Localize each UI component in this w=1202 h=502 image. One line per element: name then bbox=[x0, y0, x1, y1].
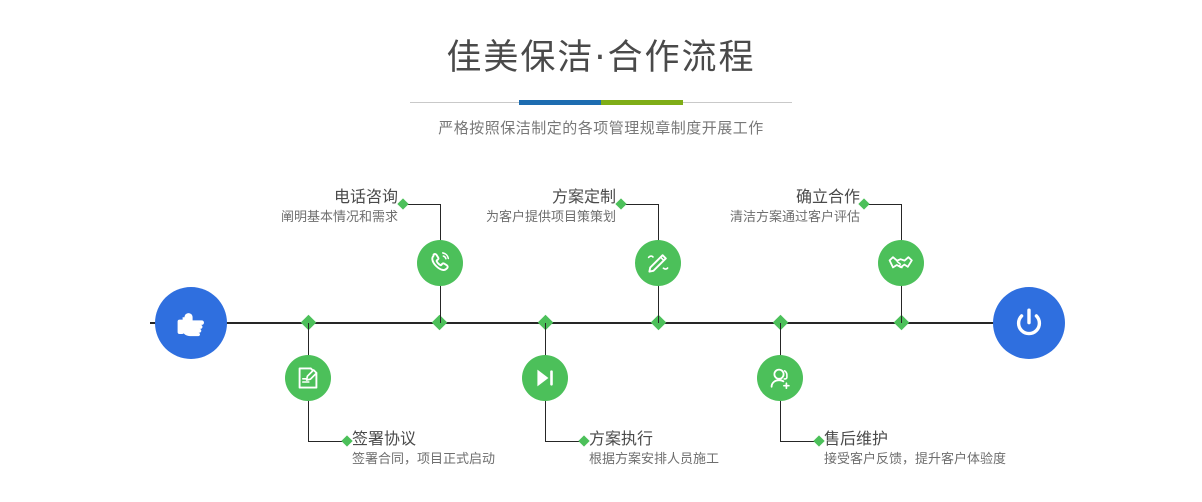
step-3-title: 方案定制 bbox=[448, 186, 616, 208]
step-6-desc: 接受客户反馈，提升客户体验度 bbox=[824, 450, 1006, 470]
document-pencil-icon bbox=[294, 364, 322, 392]
step-2-label: 签署协议 签署合同，项目正式启动 bbox=[352, 428, 495, 470]
step-5-icon-bubble[interactable] bbox=[878, 240, 924, 286]
step-2-icon-bubble[interactable] bbox=[285, 355, 331, 401]
customer-service-add-icon bbox=[766, 364, 794, 392]
step-5-marker bbox=[858, 198, 869, 209]
step-6-connector-horizontal bbox=[780, 441, 818, 442]
step-4-desc: 根据方案安排人员施工 bbox=[589, 450, 719, 470]
page-subtitle: 严格按照保洁制定的各项管理规章制度开展工作 bbox=[0, 118, 1202, 138]
step-2-marker bbox=[341, 435, 352, 446]
title-divider bbox=[410, 98, 792, 108]
handshake-icon bbox=[887, 249, 915, 277]
step-3-icon-bubble[interactable] bbox=[635, 240, 681, 286]
step-2-connector-horizontal bbox=[308, 441, 346, 442]
page-title: 佳美保洁·合作流程 bbox=[0, 38, 1202, 78]
pointing-hand-icon bbox=[171, 303, 211, 343]
step-1-icon-bubble[interactable] bbox=[417, 240, 463, 286]
step-4-icon-bubble[interactable] bbox=[522, 355, 568, 401]
divider-segment-green bbox=[601, 100, 683, 105]
step-6-marker bbox=[813, 435, 824, 446]
timeline-end-endpoint bbox=[993, 287, 1065, 359]
step-1-marker bbox=[397, 198, 408, 209]
cooperation-process-infographic: 佳美保洁·合作流程 严格按照保洁制定的各项管理规章制度开展工作 bbox=[0, 0, 1202, 502]
step-6-icon-bubble[interactable] bbox=[757, 355, 803, 401]
phone-call-icon bbox=[426, 249, 454, 277]
step-1-label: 电话咨询 阐明基本情况和需求 bbox=[230, 186, 398, 228]
step-4-title: 方案执行 bbox=[589, 428, 719, 450]
step-1-connector-horizontal bbox=[403, 204, 441, 205]
pencil-design-icon bbox=[644, 249, 672, 277]
step-4-marker bbox=[578, 435, 589, 446]
step-5-desc: 清洁方案通过客户评估 bbox=[690, 208, 860, 228]
step-5-connector-horizontal bbox=[864, 204, 902, 205]
step-3-label: 方案定制 为客户提供项目策策划 bbox=[448, 186, 616, 228]
step-4-label: 方案执行 根据方案安排人员施工 bbox=[589, 428, 719, 470]
step-5-title: 确立合作 bbox=[690, 186, 860, 208]
timeline-start-endpoint bbox=[155, 287, 227, 359]
step-2-title: 签署协议 bbox=[352, 428, 495, 450]
timeline-axis bbox=[150, 322, 1052, 324]
step-1-desc: 阐明基本情况和需求 bbox=[230, 208, 398, 228]
header: 佳美保洁·合作流程 严格按照保洁制定的各项管理规章制度开展工作 bbox=[0, 0, 1202, 138]
step-3-marker bbox=[615, 198, 626, 209]
step-3-connector-horizontal bbox=[621, 204, 659, 205]
step-3-desc: 为客户提供项目策策划 bbox=[448, 208, 616, 228]
step-6-label: 售后维护 接受客户反馈，提升客户体验度 bbox=[824, 428, 1006, 470]
power-button-icon bbox=[1009, 303, 1049, 343]
step-4-connector-horizontal bbox=[545, 441, 583, 442]
step-5-label: 确立合作 清洁方案通过客户评估 bbox=[690, 186, 860, 228]
play-execute-icon bbox=[531, 364, 559, 392]
step-2-desc: 签署合同，项目正式启动 bbox=[352, 450, 495, 470]
step-1-title: 电话咨询 bbox=[230, 186, 398, 208]
divider-segment-blue bbox=[519, 100, 601, 105]
step-6-title: 售后维护 bbox=[824, 428, 1006, 450]
